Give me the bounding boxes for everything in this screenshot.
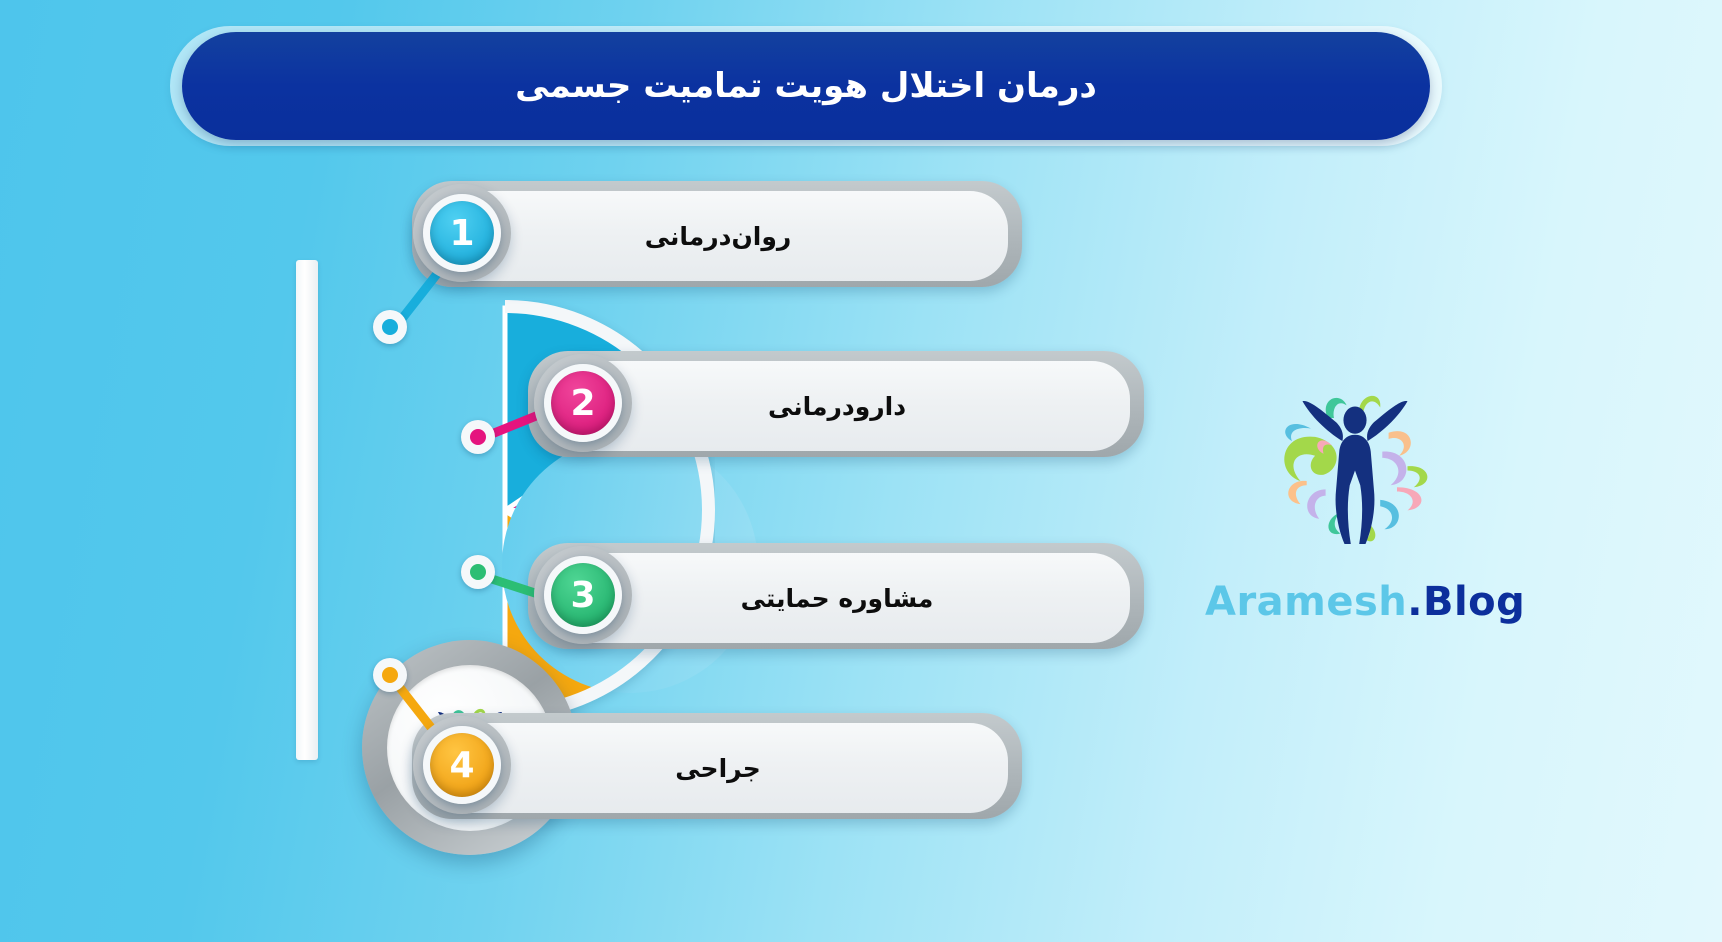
brand-name-secondary: .Blog [1407, 579, 1525, 625]
node-dot-3 [470, 564, 486, 580]
item-label-4: جراحی [675, 754, 760, 783]
item-label-1: روان‌درمانی [645, 222, 792, 251]
item-badge-2[interactable]: 2 [544, 364, 622, 442]
badge-white-ring [423, 726, 501, 804]
item-card-4[interactable]: جراحی [428, 723, 1008, 813]
item-label-3: مشاوره حمایتی [741, 584, 934, 613]
item-card-1[interactable]: روان‌درمانی [428, 191, 1008, 281]
brand-block: Aramesh.Blog [1205, 355, 1505, 625]
item-badge-3[interactable]: 3 [544, 556, 622, 634]
page-title: درمان اختلال هویت تمامیت جسمی [515, 66, 1097, 106]
item-badge-4[interactable]: 4 [423, 726, 501, 804]
badge-white-ring [544, 364, 622, 442]
node-dot-2 [470, 429, 486, 445]
item-badge-1[interactable]: 1 [423, 194, 501, 272]
node-dot-1 [382, 319, 398, 335]
node-dot-4 [382, 667, 398, 683]
connector-node-2[interactable] [461, 420, 495, 454]
title-banner-frame: درمان اختلال هویت تمامیت جسمی [170, 26, 1442, 146]
connector-node-1[interactable] [373, 310, 407, 344]
brand-name-primary: Aramesh [1205, 579, 1407, 625]
connector-node-4[interactable] [373, 658, 407, 692]
badge-white-ring [423, 194, 501, 272]
title-banner: درمان اختلال هویت تمامیت جسمی [182, 32, 1430, 140]
aramesh-figure-logo-icon [1250, 355, 1460, 565]
segment-divider [503, 306, 508, 511]
infographic-wheel [180, 255, 510, 775]
item-label-2: دارودرمانی [768, 392, 906, 421]
brand-name: Aramesh.Blog [1205, 579, 1505, 625]
badge-white-ring [544, 556, 622, 634]
connector-node-3[interactable] [461, 555, 495, 589]
